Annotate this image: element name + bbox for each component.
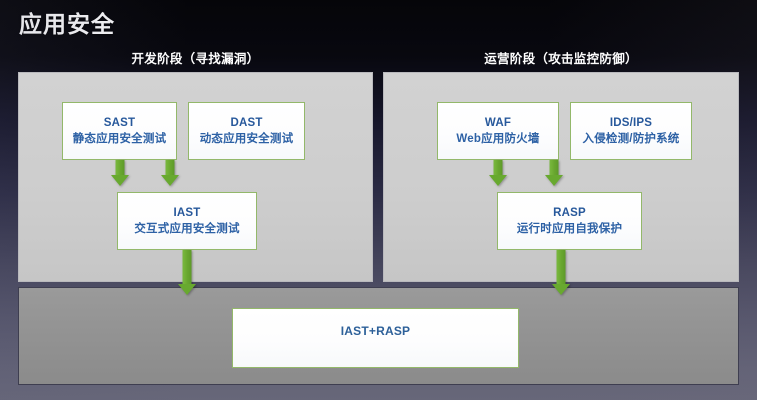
slide-canvas: 应用安全 开发阶段（寻找漏洞） 运营阶段（攻击监控防御） SAST 静态应用安全… — [0, 0, 757, 400]
card-rasp[interactable]: RASP 运行时应用自我保护 — [497, 192, 642, 250]
page-title: 应用安全 — [19, 5, 115, 39]
arrow-stem — [557, 250, 566, 285]
arrow-down-icon-iast-to-combined — [178, 250, 196, 295]
card-ids-ips-acronym: IDS/IPS — [610, 116, 652, 130]
card-waf[interactable]: WAF Web应用防火墙 — [437, 102, 559, 160]
arrow-head — [111, 175, 129, 186]
arrow-head — [161, 175, 179, 186]
card-rasp-description: 运行时应用自我保护 — [517, 222, 622, 236]
card-ids-ips-description: 入侵检测/防护系统 — [583, 132, 680, 146]
arrow-down-icon-sast-to-iast — [111, 160, 129, 186]
arrow-stem — [116, 160, 125, 176]
phase-heading-operations: 运营阶段（攻击监控防御） — [383, 48, 739, 67]
arrow-stem — [166, 160, 175, 176]
card-iast-description: 交互式应用安全测试 — [134, 222, 239, 236]
card-iast-plus-rasp[interactable]: IAST+RASP — [232, 308, 519, 368]
arrow-stem — [183, 250, 192, 285]
card-dast[interactable]: DAST 动态应用安全测试 — [188, 102, 305, 160]
card-sast-description: 静态应用安全测试 — [73, 132, 167, 146]
card-iast-plus-rasp-label: IAST+RASP — [341, 324, 410, 339]
arrow-head — [545, 175, 563, 186]
arrow-down-icon-waf-to-rasp — [489, 160, 507, 186]
card-iast[interactable]: IAST 交互式应用安全测试 — [117, 192, 257, 250]
card-sast-acronym: SAST — [104, 116, 135, 130]
arrow-head — [178, 284, 196, 295]
card-waf-acronym: WAF — [485, 116, 511, 130]
arrow-down-icon-dast-to-iast — [161, 160, 179, 186]
card-waf-description: Web应用防火墙 — [456, 132, 539, 146]
card-rasp-acronym: RASP — [553, 206, 586, 220]
card-dast-description: 动态应用安全测试 — [200, 132, 294, 146]
arrow-stem — [550, 160, 559, 176]
arrow-head — [552, 284, 570, 295]
arrow-head — [489, 175, 507, 186]
arrow-stem — [494, 160, 503, 176]
phase-heading-development: 开发阶段（寻找漏洞） — [18, 48, 373, 67]
card-dast-acronym: DAST — [230, 116, 262, 130]
card-ids-ips[interactable]: IDS/IPS 入侵检测/防护系统 — [570, 102, 692, 160]
arrow-down-icon-ids-ips-to-rasp — [545, 160, 563, 186]
card-sast[interactable]: SAST 静态应用安全测试 — [62, 102, 177, 160]
arrow-down-icon-rasp-to-combined — [552, 250, 570, 295]
card-iast-acronym: IAST — [174, 206, 201, 220]
